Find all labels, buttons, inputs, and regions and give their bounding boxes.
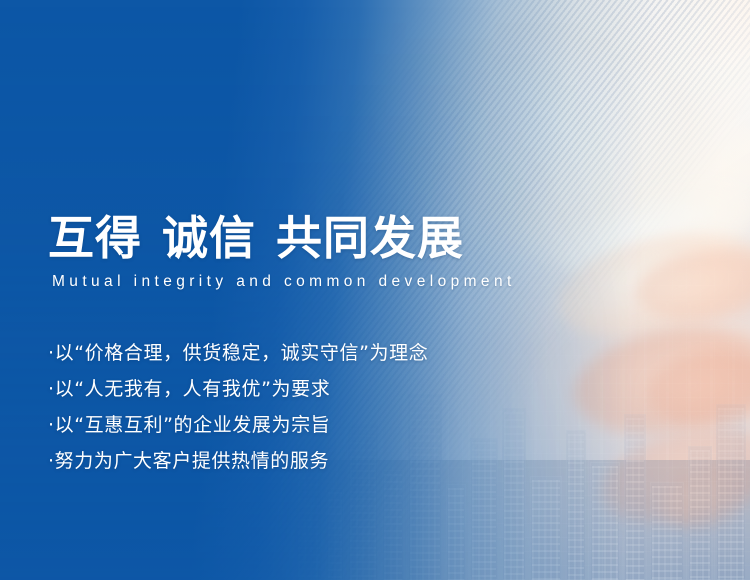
list-item: ·努力为广大客户提供热情的服务 [48,443,516,479]
value-proposition-list: ·以“价格合理，供货稳定，诚实守信”为理念 ·以“人无我有，人有我优”为要求 ·… [48,335,516,479]
corporate-banner: 互得诚信共同发展 Mutual integrity and common dev… [0,0,750,580]
skyline-building [566,430,586,580]
skyline-building [446,484,466,580]
banner-content: 互得诚信共同发展 Mutual integrity and common dev… [48,214,516,479]
page-title: 互得诚信共同发展 [48,214,516,263]
skyline-building [326,488,344,580]
skyline-building [530,476,562,580]
page-subtitle: Mutual integrity and common development [52,273,516,291]
list-item: ·以“价格合理，供货稳定，诚实守信”为理念 [48,335,516,371]
headline-part-2: 诚信 [162,211,256,265]
skyline-building [382,470,404,580]
headline-part-3: 共同发展 [276,211,464,265]
list-item: ·以“互惠互利”的企业发展为宗旨 [48,407,516,443]
headline-part-1: 互得 [48,211,142,265]
list-item: ·以“人无我有，人有我优”为要求 [48,371,516,407]
